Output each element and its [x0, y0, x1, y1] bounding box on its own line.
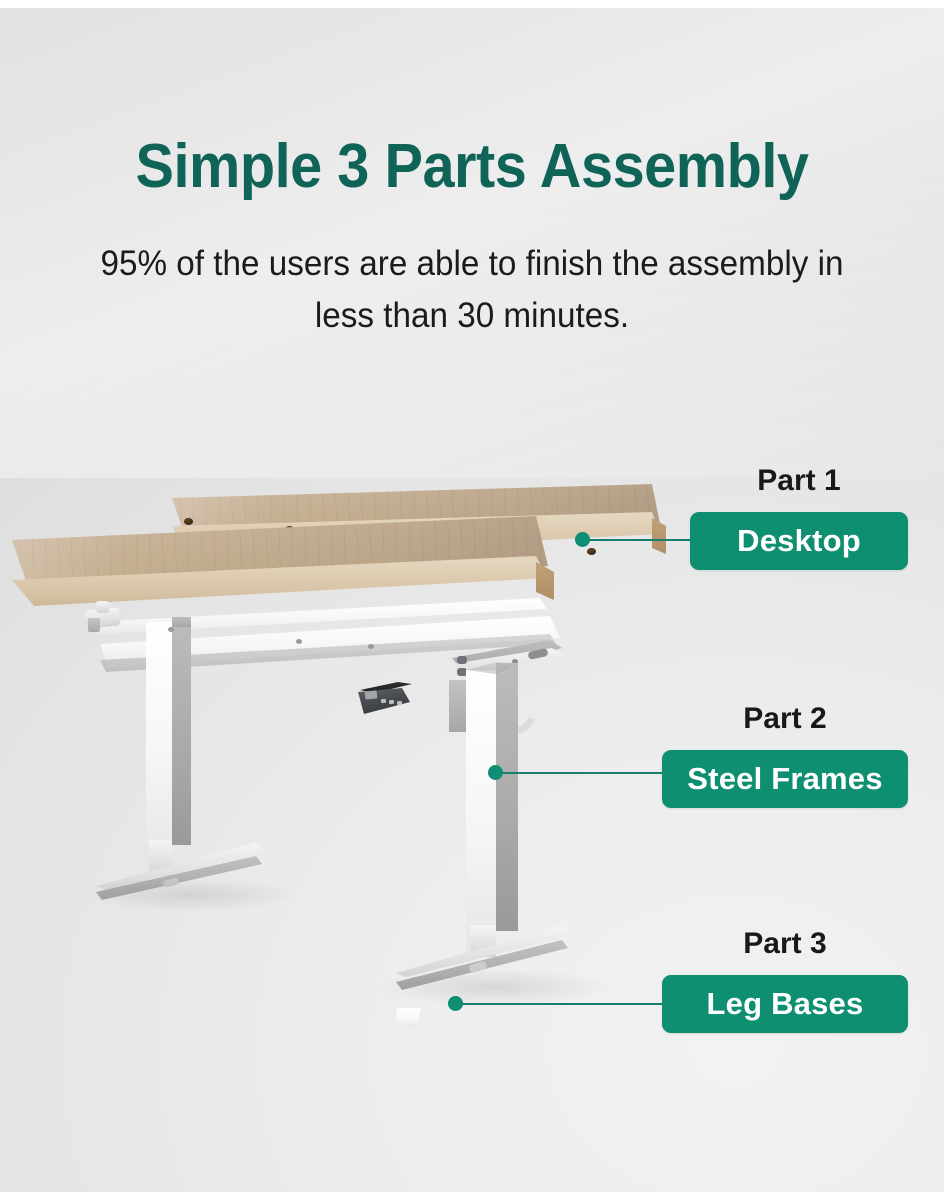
infographic-root: Simple 3 Parts Assembly 95% of the users…	[0, 0, 944, 1200]
part-1-caption: Part 1	[688, 463, 910, 499]
leader-line-part-2	[502, 772, 663, 774]
leader-line-part-3	[462, 1003, 663, 1005]
leader-dot-part-2	[488, 765, 503, 780]
leader-dot-part-3	[448, 996, 463, 1011]
part-3-caption: Part 3	[662, 926, 908, 962]
part-3-label-pill[interactable]: Leg Bases	[662, 975, 908, 1033]
part-2-caption: Part 2	[662, 701, 908, 737]
leader-dot-part-1	[575, 532, 590, 547]
part-2-label-pill[interactable]: Steel Frames	[662, 750, 908, 808]
page-title: Simple 3 Parts Assembly	[33, 132, 911, 202]
page-subtitle: 95% of the users are able to finish the …	[73, 238, 871, 342]
leader-line-part-1	[589, 539, 691, 541]
part-1-label-pill[interactable]: Desktop	[690, 512, 908, 570]
